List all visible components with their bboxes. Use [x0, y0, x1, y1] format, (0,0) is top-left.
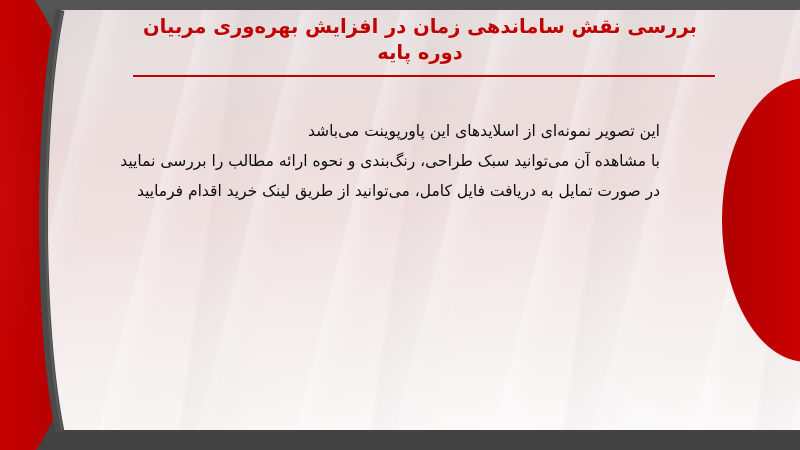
panel-sheen: [32, 8, 800, 432]
panel-diagonal-streaks: [32, 8, 800, 432]
panel-diagonal-streaks-dark: [32, 8, 800, 432]
presentation-slide: بررسی نقش ساماندهی زمان در افزایش بهره‌و…: [0, 0, 800, 450]
content-panel: [32, 8, 800, 432]
